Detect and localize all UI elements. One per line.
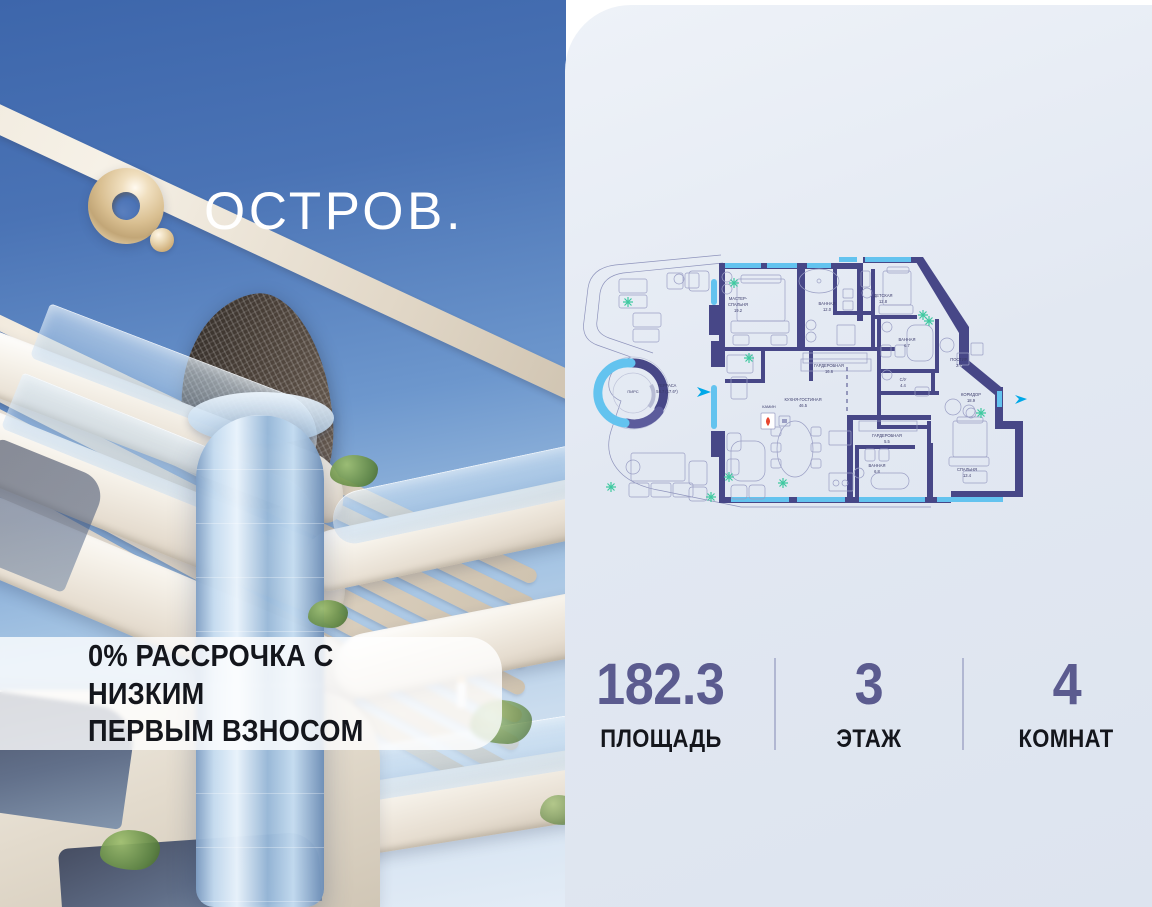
room-area-master: 19.2 xyxy=(734,308,743,313)
stat-floor: 3 ЭТАЖ xyxy=(814,656,924,752)
stat-rooms: 4 КОМНАТ xyxy=(1002,656,1132,752)
room-area-bedroom: 13.4 xyxy=(963,473,972,478)
stat-divider xyxy=(774,658,776,750)
room-label-bath2: ВАННАЯ xyxy=(899,337,916,342)
brand-name: ОСТРОВ. xyxy=(204,185,464,238)
room-label-corridor: КОРИДОР xyxy=(961,392,981,397)
room-area-wc: 4.4 xyxy=(900,383,906,388)
room-label-kids: ДЕТСКАЯ xyxy=(873,293,892,298)
stat-rooms-label: КОМНАТ xyxy=(1019,727,1114,752)
room-label-master: МАСТЕР- xyxy=(729,296,748,301)
stat-area-value: 182.3 xyxy=(596,656,724,714)
listing-card: ОСТРОВ. 0% РАССРОЧКА С НИЗКИМ ПЕРВЫМ ВЗН… xyxy=(0,0,1152,907)
room-label-wc: С/У xyxy=(900,377,907,382)
stat-area: 182.3 ПЛОЩАДЬ xyxy=(586,656,736,752)
room-label-laundry: ПОСТИР. xyxy=(950,357,967,362)
torus-ring-icon xyxy=(88,168,174,254)
promo-text: 0% РАССРОЧКА С НИЗКИМ ПЕРВЫМ ВЗНОСОМ xyxy=(88,637,452,750)
planting xyxy=(308,600,348,628)
apartment-stats: 182.3 ПЛОЩАДЬ 3 ЭТАЖ 4 КОМНАТ xyxy=(565,656,1152,752)
room-label-fireplace: КАМИН xyxy=(762,405,776,409)
room-label-bath1: ВАННАЯ xyxy=(819,301,836,306)
room-area-kitchen: 46.5 xyxy=(799,403,808,408)
room-area-kids: 12.8 xyxy=(879,299,888,304)
stat-floor-value: 3 xyxy=(854,656,883,714)
room-label-terrace: ТЕРРАСА xyxy=(658,383,677,388)
room-area-bath2: 6.7 xyxy=(904,343,910,348)
stat-area-label: ПЛОЩАДЬ xyxy=(600,727,721,752)
room-area-wardrobe2: 5.5 xyxy=(884,439,890,444)
room-label-pier: ПИРС xyxy=(627,389,638,394)
building-render: ОСТРОВ. 0% РАССРОЧКА С НИЗКИМ ПЕРВЫМ ВЗН… xyxy=(0,0,566,907)
planting xyxy=(100,830,160,870)
room-label-bath3: ВАННАЯ xyxy=(869,463,886,468)
promo-banner: 0% РАССРОЧКА С НИЗКИМ ПЕРВЫМ ВЗНОСОМ xyxy=(0,637,502,750)
room-area-corridor: 18.9 xyxy=(967,398,976,403)
stat-divider xyxy=(962,658,964,750)
room-area-laundry: 2.7 xyxy=(956,363,962,368)
info-panel: ПИРС ТЕРРАСА 58.7 (17.6*) МАСТЕР- СПАЛЬН… xyxy=(565,5,1152,907)
room-area-terrace: 58.7 (17.6*) xyxy=(656,389,678,394)
room-area-bath3: 6.8 xyxy=(874,469,880,474)
room-label-kitchen: КУХНЯ-ГОСТИНАЯ xyxy=(784,397,821,402)
room-label-master2: СПАЛЬНЯ xyxy=(728,302,748,307)
room-label-wardrobe1: ГАРДЕРОБНАЯ xyxy=(814,363,844,368)
room-area-wardrobe1: 16.6 xyxy=(825,369,834,374)
stat-rooms-value: 4 xyxy=(1052,656,1081,714)
fireplace-icon xyxy=(761,413,790,429)
brand-logo[interactable]: ОСТРОВ. xyxy=(88,168,464,254)
floor-plan[interactable]: ПИРС ТЕРРАСА 58.7 (17.6*) МАСТЕР- СПАЛЬН… xyxy=(571,235,1041,535)
planting xyxy=(330,455,378,487)
room-area-bath1: 12.0 xyxy=(823,307,832,312)
room-label-bedroom: СПАЛЬНЯ xyxy=(957,467,977,472)
room-label-wardrobe2: ГАРДЕРОБНАЯ xyxy=(872,433,902,438)
stat-floor-label: ЭТАЖ xyxy=(836,727,901,752)
